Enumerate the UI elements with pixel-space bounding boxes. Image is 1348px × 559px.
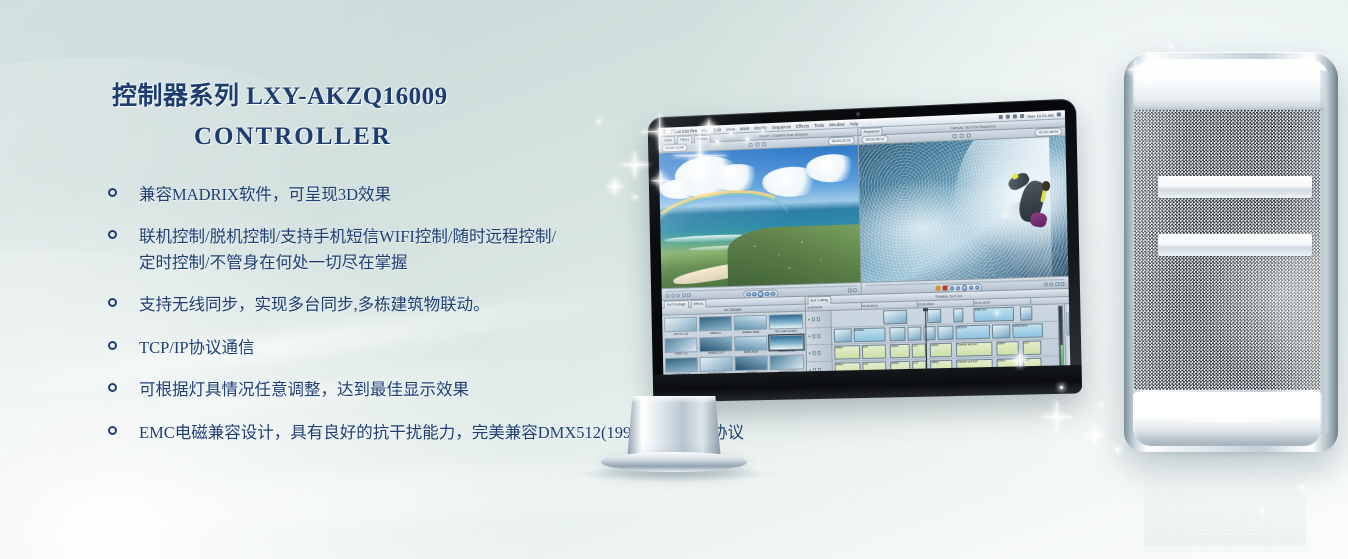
play-in-to-out-icon[interactable] xyxy=(955,286,960,291)
zoom-level-icon[interactable] xyxy=(952,134,956,138)
menu-file[interactable]: File xyxy=(702,127,709,132)
track-lock-icon[interactable] xyxy=(812,335,816,339)
search-icon[interactable] xyxy=(1057,112,1061,116)
clip-label: SPRAY xyxy=(836,363,844,366)
clip-name: WAVE PEAK xyxy=(735,351,768,355)
clip-name: HORIZON PAN xyxy=(770,350,804,354)
match-frame-icon[interactable] xyxy=(687,293,691,297)
menubar-app-name[interactable]: Final Cut Pro xyxy=(671,128,697,134)
monitor-stand-base xyxy=(601,452,747,472)
clip-thumbnail[interactable] xyxy=(734,335,768,351)
track-controls-v1[interactable] xyxy=(806,328,831,346)
coastline-land xyxy=(727,225,860,287)
list-item[interactable]: SPRAY CU xyxy=(665,337,698,356)
viewer-right-buttons[interactable] xyxy=(847,288,856,292)
viewer-pane: Video Filters Motion Viewer: Coastline f… xyxy=(658,128,861,300)
clip-label: SPRAY xyxy=(835,347,843,350)
loop-icon[interactable] xyxy=(969,285,974,290)
clip-thumbnail[interactable] xyxy=(699,316,732,332)
clip-name: RIDER 04 xyxy=(699,331,732,335)
bullet-circle-icon xyxy=(108,230,117,239)
menu-help[interactable]: Help xyxy=(849,121,858,126)
go-start-icon[interactable] xyxy=(949,286,954,291)
recent-clips-icon[interactable] xyxy=(847,288,851,292)
canvas-timecode-out[interactable]: 01:01:18:04 xyxy=(1035,128,1063,137)
timeline-clip[interactable]: BARREL xyxy=(853,327,885,342)
clip-thumbnail[interactable] xyxy=(665,337,698,353)
clip-label: SPRAY xyxy=(998,360,1006,363)
browser-pane: Surf Footage Effects Ice Cascade ICE FAL… xyxy=(662,297,807,375)
feature-text: EMC电磁兼容设计，具有良好的抗干扰能力，完美兼容DMX512(1990)国际标… xyxy=(139,420,880,446)
menubar-clock[interactable]: Mon 10:24 AM xyxy=(1027,112,1053,118)
list-item[interactable]: RIDER 04 xyxy=(699,316,732,335)
clip-label: CUT xyxy=(1024,342,1029,345)
surfer-trunks xyxy=(1029,211,1048,229)
bullet-circle-icon xyxy=(108,341,117,350)
tab-surf-footage[interactable]: Surf Footage xyxy=(664,300,689,309)
tab-filters[interactable]: Filters xyxy=(677,135,692,144)
clip-label: CUT xyxy=(913,362,918,365)
viewer-canvas-row: Video Filters Motion Viewer: Coastline f… xyxy=(658,119,1068,300)
clip-label: SPRAY xyxy=(997,342,1005,345)
clip-name: SPRAY CU xyxy=(665,352,698,356)
timeline-clip[interactable] xyxy=(991,324,1010,339)
canvas-pane-title: Canvas: Surf Cut Sequence xyxy=(951,124,996,130)
menu-mark[interactable]: Mark xyxy=(740,125,750,130)
track-lock-icon[interactable] xyxy=(812,318,816,322)
timeline-clip[interactable] xyxy=(1020,306,1033,321)
battery-icon[interactable] xyxy=(1020,114,1024,118)
clip-name: PADDLE OUT xyxy=(700,351,733,355)
list-item[interactable]: BARREL WIDE xyxy=(734,315,768,334)
list-item[interactable]: WAVE PEAK xyxy=(734,335,768,354)
mark-in-icon[interactable] xyxy=(1043,282,1047,286)
track-enable-icon[interactable] xyxy=(808,352,811,355)
add-marker-icon[interactable] xyxy=(1055,282,1059,286)
timeline-clip[interactable]: CUT xyxy=(862,344,886,359)
track-visibility-icon[interactable] xyxy=(817,334,821,338)
clip-name: BARREL WIDE xyxy=(734,330,767,334)
timeline-clip[interactable] xyxy=(889,327,905,341)
timeline-clip[interactable] xyxy=(907,326,921,340)
clip-thumbnail[interactable] xyxy=(664,317,697,333)
tower-reflection xyxy=(1134,444,1324,552)
list-item[interactable]: BOARD DECK xyxy=(700,357,733,375)
viewer-pane-title: Viewer: Coastline from Browser xyxy=(759,132,808,138)
ruler-tick-label: 01:01:00:00 xyxy=(918,302,933,306)
list-item[interactable]: HORIZON PAN xyxy=(770,334,804,353)
viewer-timecode-in[interactable]: 00:00:14:08 xyxy=(662,143,688,152)
airport-icon[interactable] xyxy=(1006,115,1010,119)
clip-label: CUT xyxy=(1024,359,1029,362)
surfer-figure xyxy=(991,170,1055,239)
clip-label: SURF CUT xyxy=(974,309,986,312)
track-controls-a1[interactable] xyxy=(806,345,831,363)
viewer-image xyxy=(659,145,861,288)
tower-computer xyxy=(1124,52,1338,452)
clip-label: SPRAY xyxy=(891,362,899,365)
ruler-tick-label: 01:00:30:00 xyxy=(863,304,878,308)
canvas-right-buttons[interactable] xyxy=(1043,282,1064,287)
add-marker-icon[interactable] xyxy=(681,293,685,297)
track-controls-v2[interactable] xyxy=(805,311,830,329)
viewer-timecode-out[interactable]: 00:00:32:20 xyxy=(828,136,855,145)
clip-label: SPRAY xyxy=(931,344,939,347)
timeline-tracks: SURF CUT BARREL DROP IN xyxy=(805,304,1070,375)
clip-label: BARREL xyxy=(855,329,865,332)
match-frame-icon[interactable] xyxy=(1060,282,1064,286)
clip-label: CUT xyxy=(863,346,868,349)
add-keyframe-icon[interactable] xyxy=(676,294,680,298)
product-title-line1: 控制器系列 LXY-AKZQ16009 xyxy=(112,83,880,112)
mark-out-icon[interactable] xyxy=(671,294,675,298)
menu-edit[interactable]: Edit xyxy=(714,127,721,132)
tab-video[interactable]: Video xyxy=(660,136,675,144)
canvas-timecode-in[interactable]: 00:01:06:12 xyxy=(862,135,889,144)
play-icon[interactable] xyxy=(961,285,967,291)
tower-side-edge xyxy=(1320,70,1338,434)
track-mute-icon[interactable] xyxy=(817,351,821,355)
monitor-stand-neck xyxy=(627,396,721,460)
list-item[interactable]: SKY LINE SUNSET xyxy=(769,314,803,333)
list-item[interactable]: ICE FALL B2 xyxy=(664,317,697,336)
track-lock-icon[interactable] xyxy=(812,351,816,355)
mark-out-icon[interactable] xyxy=(1049,282,1053,286)
timeline-clip[interactable] xyxy=(883,310,907,325)
timeline-scrollbar[interactable] xyxy=(1064,304,1070,373)
browser-thumbnail-grid[interactable]: ICE FALL B2 RIDER 04 BARREL WIDE SKY LIN… xyxy=(662,312,806,375)
clip-thumbnail[interactable] xyxy=(770,334,804,350)
timeline-clip[interactable] xyxy=(927,309,941,323)
apple-icon[interactable] xyxy=(662,130,666,134)
clip-label: CUT xyxy=(863,363,868,366)
clip-thumbnail[interactable] xyxy=(665,358,698,374)
view-options-icon[interactable] xyxy=(959,134,963,138)
loop-icon[interactable] xyxy=(765,291,769,296)
zoom-level-icon[interactable] xyxy=(749,143,753,147)
bullet-circle-icon xyxy=(108,426,117,435)
canvas-image xyxy=(859,137,1069,283)
clip-thumbnail[interactable] xyxy=(699,336,732,352)
clip-thumbnail[interactable] xyxy=(769,314,803,330)
track-enable-icon[interactable] xyxy=(808,335,811,338)
clip-label: SPRAY xyxy=(931,361,939,364)
menu-sequence[interactable]: Sequence xyxy=(772,124,791,130)
volume-icon[interactable] xyxy=(1013,114,1017,118)
timeline-clip[interactable]: SPRAY xyxy=(889,344,909,359)
timeline-clip[interactable]: SPRAY xyxy=(929,343,951,358)
coastal-rainbow-footage xyxy=(659,145,861,288)
clip-name: SKY LINE SUNSET xyxy=(769,329,803,333)
tower-bottom-panel xyxy=(1133,392,1322,446)
clip-name: ICE FALL B2 xyxy=(664,332,697,336)
timeline-clip[interactable]: SURF CUT xyxy=(973,307,1014,322)
menu-view[interactable]: View xyxy=(726,126,735,131)
timeline-title: Timeline: Surf Cut xyxy=(935,294,962,299)
go-end-icon[interactable] xyxy=(975,285,980,290)
list-item[interactable]: PADDLE OUT xyxy=(699,336,732,355)
play-in-to-out-icon[interactable] xyxy=(752,292,756,297)
timeline-clip[interactable]: WAVE PEAK xyxy=(1012,323,1043,338)
generators-icon[interactable] xyxy=(853,288,857,292)
list-item[interactable]: SHORE BREAK xyxy=(665,358,698,375)
canvas-playback-buttons[interactable] xyxy=(946,283,982,293)
bullet-circle-icon xyxy=(108,298,117,307)
tower-top-panel xyxy=(1133,59,1329,111)
timeline-lanes[interactable]: SURF CUT BARREL DROP IN xyxy=(831,304,1070,375)
menu-effects[interactable]: Effects xyxy=(796,123,809,129)
clip-label: CUT xyxy=(913,345,918,348)
timeline-clip[interactable]: CUT xyxy=(1022,340,1041,355)
view-options-icon[interactable] xyxy=(755,142,759,146)
list-item: EMC电磁兼容设计，具有良好的抗干扰能力，完美兼容DMX512(1990)国际标… xyxy=(108,420,880,446)
menu-modify[interactable]: Modify xyxy=(754,125,767,131)
insert-edit-icon[interactable] xyxy=(935,285,940,290)
clip-thumbnail[interactable] xyxy=(700,357,733,373)
canvas-pane: Sequence Canvas: Surf Cut Sequence 00:01… xyxy=(858,119,1068,294)
bullet-circle-icon xyxy=(108,383,117,392)
tab-surf-cutting[interactable]: Surf Cutting xyxy=(807,295,831,304)
surfer-head xyxy=(1042,181,1050,191)
ruler-tick-label: 01:01:30:00 xyxy=(975,300,990,304)
timeline-clip[interactable] xyxy=(937,326,953,341)
browser-timeline-row: Surf Footage Effects Ice Cascade ICE FAL… xyxy=(662,288,1070,375)
monitor-screen: Final Cut Pro File Edit View Mark Modify… xyxy=(658,110,1070,375)
viewer-playback-buttons[interactable] xyxy=(743,289,778,298)
mark-in-icon[interactable] xyxy=(666,294,670,298)
bluetooth-icon[interactable] xyxy=(999,115,1003,119)
go-start-icon[interactable] xyxy=(746,292,750,297)
ruler-tick-label: 01:00:00:00 xyxy=(807,305,822,309)
go-end-icon[interactable] xyxy=(770,291,774,296)
clip-thumbnail[interactable] xyxy=(734,315,768,331)
timeline-clip[interactable] xyxy=(953,308,963,322)
timeline-clip[interactable] xyxy=(833,328,851,342)
clip-label: Coastline and Surf xyxy=(957,360,977,363)
tab-motion[interactable]: Motion xyxy=(694,134,710,143)
timeline-clip[interactable]: DROP IN xyxy=(955,325,990,340)
tab-sequence[interactable]: Sequence xyxy=(860,127,882,136)
timeline-pane: Surf Cutting Timeline: Surf Cut 01:00:00… xyxy=(805,289,1070,375)
timeline-clip[interactable]: SPRAY xyxy=(996,341,1019,356)
menu-tools[interactable]: Tools xyxy=(814,122,824,127)
optical-drive-slot-1[interactable] xyxy=(1158,176,1312,198)
menu-window[interactable]: Window xyxy=(829,121,844,127)
clip-label: Coastline and Surf xyxy=(957,343,977,347)
display-monitor: Final Cut Pro File Edit View Mark Modify… xyxy=(648,98,1083,402)
tab-effects[interactable]: Effects xyxy=(690,299,706,307)
timeline-clip[interactable]: Coastline and Surf xyxy=(955,342,992,357)
track-gutter[interactable] xyxy=(805,311,832,375)
play-icon[interactable] xyxy=(758,291,763,297)
track-visibility-icon[interactable] xyxy=(816,317,820,321)
monitor-bezel: Final Cut Pro File Edit View Mark Modify… xyxy=(648,98,1083,402)
optical-drive-slot-2[interactable] xyxy=(1158,234,1312,256)
clip-thumbnail[interactable] xyxy=(770,355,804,371)
track-enable-icon[interactable] xyxy=(808,318,811,321)
clip-thumbnail[interactable] xyxy=(735,356,769,372)
overlay-icon[interactable] xyxy=(966,133,970,137)
clip-label: DROP IN xyxy=(957,326,967,329)
scrollbar-thumb[interactable] xyxy=(1066,312,1070,336)
overlay-icon[interactable] xyxy=(762,142,766,146)
clip-label: SPRAY xyxy=(891,345,899,348)
clip-label: WAVE PEAK xyxy=(1013,325,1027,328)
surfer-in-wave-footage xyxy=(859,137,1069,283)
timeline-clip[interactable]: SPRAY xyxy=(834,345,860,360)
timeline-clip[interactable]: CUT xyxy=(911,343,925,357)
bullet-circle-icon xyxy=(108,188,117,197)
viewer-left-buttons[interactable] xyxy=(666,293,691,298)
